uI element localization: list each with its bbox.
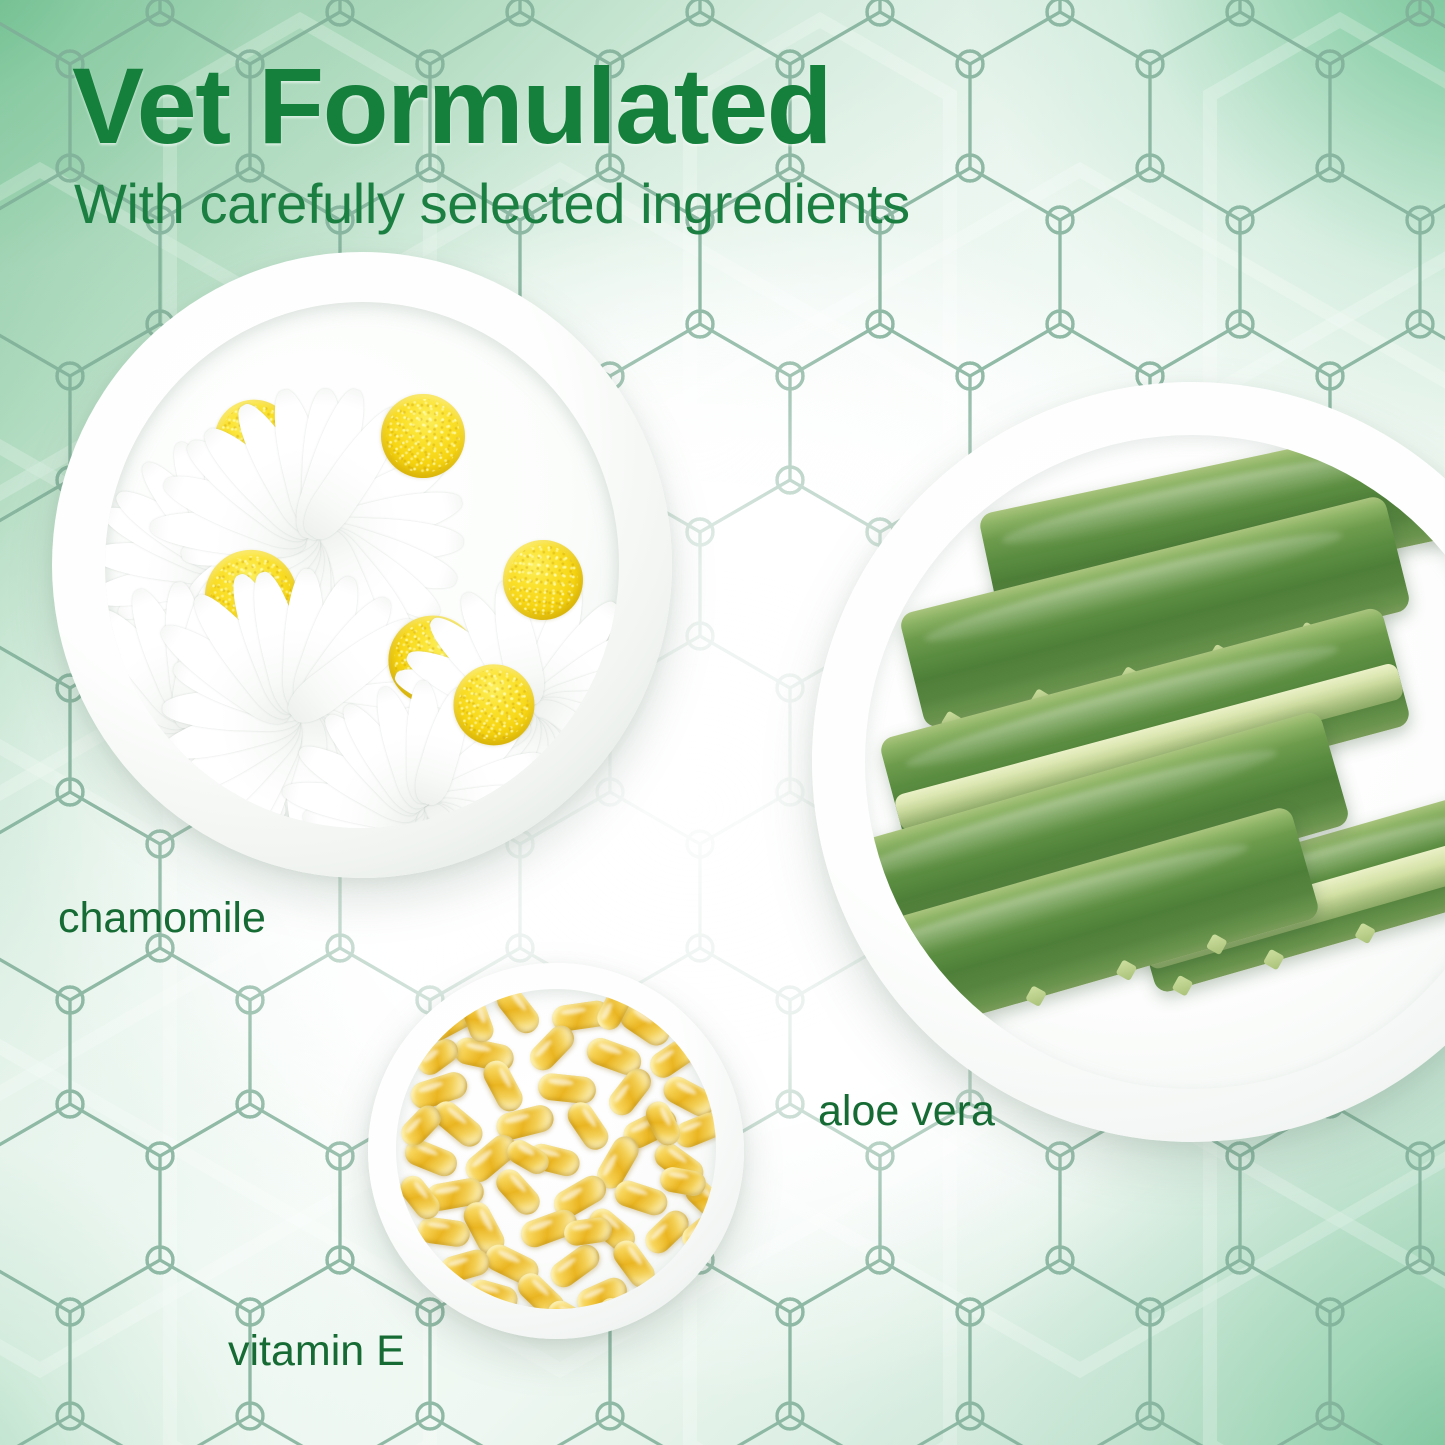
caption-vitamin-e: vitamin E bbox=[228, 1330, 405, 1373]
page-subtitle: With carefully selected ingredients bbox=[74, 176, 910, 232]
caption-aloe-vera: aloe vera bbox=[818, 1090, 995, 1133]
vitamin-e-capsule bbox=[479, 1056, 527, 1116]
vitamin-e-capsule bbox=[563, 1097, 614, 1155]
caption-chamomile: chamomile bbox=[58, 897, 266, 940]
vitamin-e-capsule bbox=[417, 1216, 472, 1249]
vitamin-e-bowl-interior bbox=[396, 989, 716, 1309]
vitamin-e-bowl bbox=[368, 963, 744, 1339]
chamomile-bowl-rim bbox=[52, 252, 672, 878]
chamomile-bowl bbox=[52, 252, 672, 878]
vitamin-e-capsule bbox=[563, 1216, 614, 1247]
page-title: Vet Formulated bbox=[72, 52, 831, 160]
infographic-canvas: Vet Formulated With carefully selected i… bbox=[0, 0, 1445, 1445]
aloe-vera-plate-interior bbox=[865, 435, 1445, 1089]
vitamin-e-capsule bbox=[537, 1072, 598, 1105]
vitamin-e-capsule bbox=[466, 1277, 521, 1309]
vitamin-e-capsule bbox=[492, 989, 545, 1038]
